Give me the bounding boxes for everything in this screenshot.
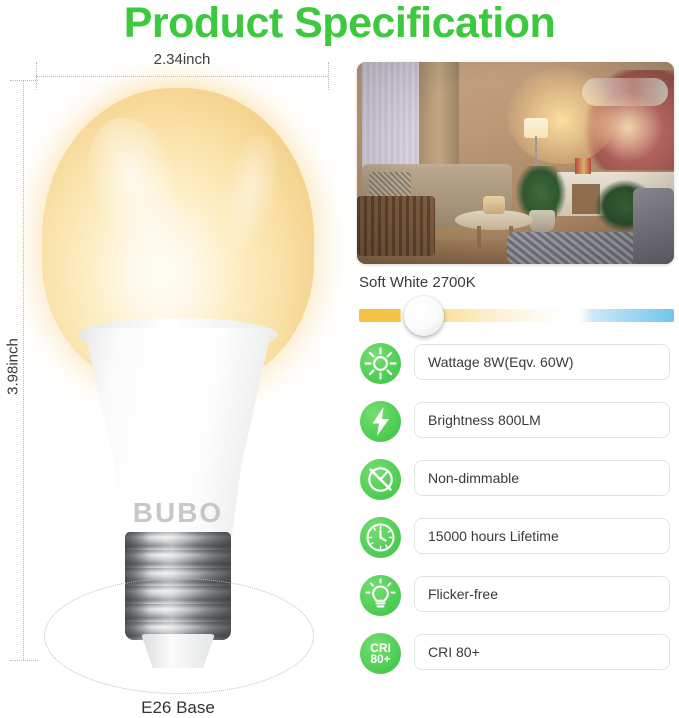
specification-panel: Soft White 2700K — [357, 62, 679, 676]
spec-value-lifetime: 15000 hours Lifetime — [414, 518, 670, 554]
width-tick-right — [328, 62, 329, 90]
spec-row-dimmable: Non-dimmable — [357, 458, 679, 516]
height-tick-top — [10, 80, 38, 81]
no-dimmer-icon — [360, 459, 401, 500]
product-specification-page: Product Specification 2.34inch 3.98inch … — [0, 0, 679, 676]
height-dimension-line — [23, 80, 24, 660]
base-highlight-ellipse — [44, 578, 314, 694]
cri-badge-icon: CRI 80+ — [360, 633, 401, 674]
spec-row-wattage: Wattage 8W(Eqv. 60W) — [357, 342, 679, 400]
spec-value-cri: CRI 80+ — [414, 634, 670, 670]
color-temperature-slider-knob[interactable] — [404, 296, 444, 336]
photo-vignette — [357, 62, 674, 264]
spec-row-cri: CRI 80+ CRI 80+ — [357, 632, 679, 690]
spec-list: Wattage 8W(Eqv. 60W) Brightness 800LM — [357, 342, 679, 690]
spec-row-lifetime: 15000 hours Lifetime — [357, 516, 679, 574]
width-dimension-label: 2.34inch — [36, 51, 328, 68]
brand-text: BUBO — [84, 497, 272, 529]
spec-value-brightness: Brightness 800LM — [414, 402, 670, 438]
spec-value-dimmable: Non-dimmable — [414, 460, 670, 496]
lightning-icon — [360, 401, 401, 442]
spec-row-flicker: Flicker-free — [357, 574, 679, 632]
height-dimension-label: 3.98inch — [5, 307, 22, 427]
room-scene-photo — [357, 62, 674, 264]
cri-badge-line2: 80+ — [370, 654, 390, 665]
light-bulb-illustration: BUBO E26 Base — [38, 82, 318, 662]
page-title: Product Specification — [0, 0, 679, 50]
sun-icon — [360, 343, 401, 384]
spec-value-flicker: Flicker-free — [414, 576, 670, 612]
width-dimension-line — [36, 76, 328, 77]
base-type-label: E26 Base — [38, 698, 318, 718]
height-tick-bottom — [10, 660, 38, 661]
spec-value-wattage: Wattage 8W(Eqv. 60W) — [414, 344, 670, 380]
lightbulb-icon — [360, 575, 401, 616]
clock-icon — [360, 517, 401, 558]
bulb-dimension-panel: 2.34inch 3.98inch BUBO E26 Base — [0, 50, 348, 676]
color-temperature-label: Soft White 2700K — [359, 274, 476, 291]
spec-row-brightness: Brightness 800LM — [357, 400, 679, 458]
